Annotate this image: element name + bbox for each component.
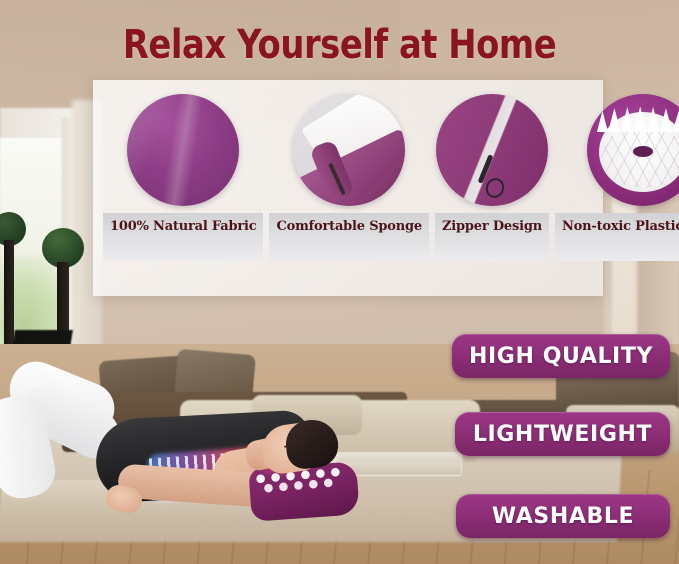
feature-label: Zipper Design: [435, 213, 549, 261]
legs: [0, 372, 112, 497]
sponge-circle-icon: [293, 94, 405, 206]
zipper-pull-ring: [483, 176, 507, 201]
page-title: Relax Yourself at Home: [20, 22, 658, 68]
badge-high-quality: HIGH QUALITY: [452, 334, 670, 378]
badge-washable: WASHABLE: [456, 494, 670, 538]
feature-list: 100% Natural Fabric Comfortable Sponge Z…: [93, 80, 603, 296]
badge-lightweight: LIGHTWEIGHT: [455, 412, 670, 456]
nail-disc-texture: [601, 126, 679, 188]
feature-label: Comfortable Sponge: [269, 213, 429, 261]
feature-item-nails: Non-toxic Plastic Nails: [555, 94, 679, 296]
product-marketing-image: Relax Yourself at Home 100% Natural Fabr…: [0, 0, 679, 564]
feature-label: 100% Natural Fabric: [103, 213, 263, 261]
zipper-circle-icon: [436, 94, 548, 206]
feature-item-zipper: Zipper Design: [435, 94, 549, 296]
feature-label: Non-toxic Plastic Nails: [555, 213, 679, 261]
feature-item-fabric: 100% Natural Fabric: [103, 94, 263, 296]
plastic-nails-circle-icon: [587, 94, 679, 206]
purple-fabric-circle-icon: [127, 94, 239, 206]
feature-item-sponge: Comfortable Sponge: [269, 94, 429, 296]
nail-spikes: [597, 106, 679, 132]
nail-disc-hole: [633, 146, 653, 157]
